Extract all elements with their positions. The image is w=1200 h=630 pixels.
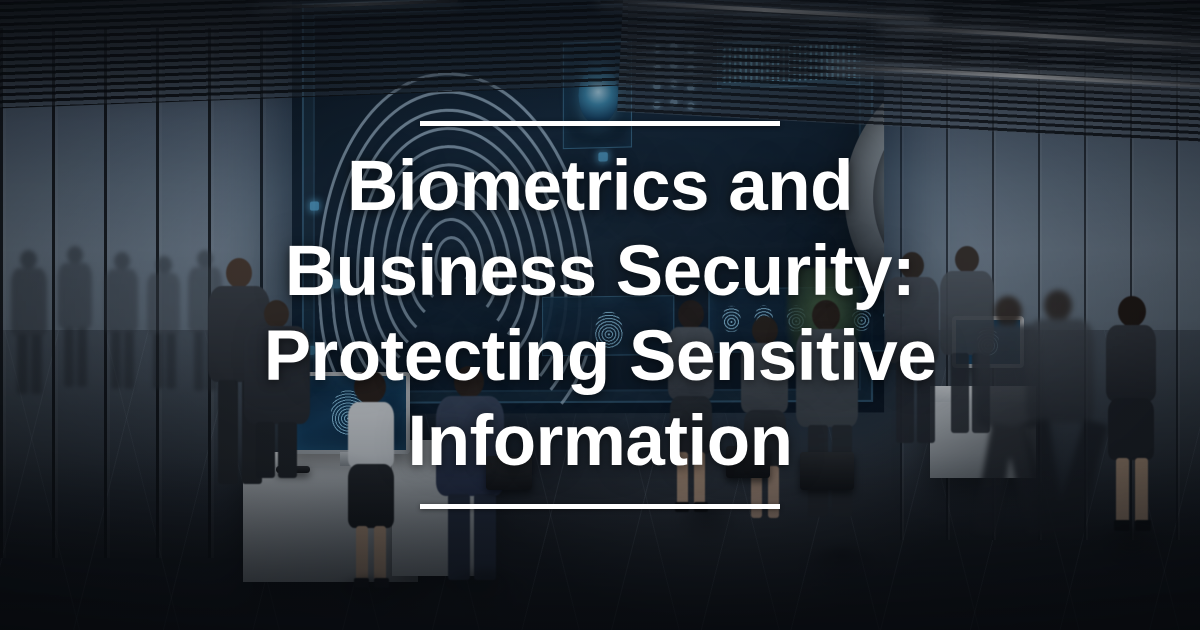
page-title: Biometrics and Business Security: Protec… bbox=[60, 144, 1140, 484]
title-overlay: Biometrics and Business Security: Protec… bbox=[0, 0, 1200, 630]
hero-banner: Biometrics and Business Security: Protec… bbox=[0, 0, 1200, 630]
bottom-rule bbox=[420, 504, 780, 509]
top-rule bbox=[420, 121, 780, 126]
title-line-1: Biometrics and bbox=[60, 144, 1140, 229]
title-line-4: Information bbox=[60, 399, 1140, 484]
title-line-2: Business Security: bbox=[60, 229, 1140, 314]
title-line-3: Protecting Sensitive bbox=[60, 314, 1140, 399]
